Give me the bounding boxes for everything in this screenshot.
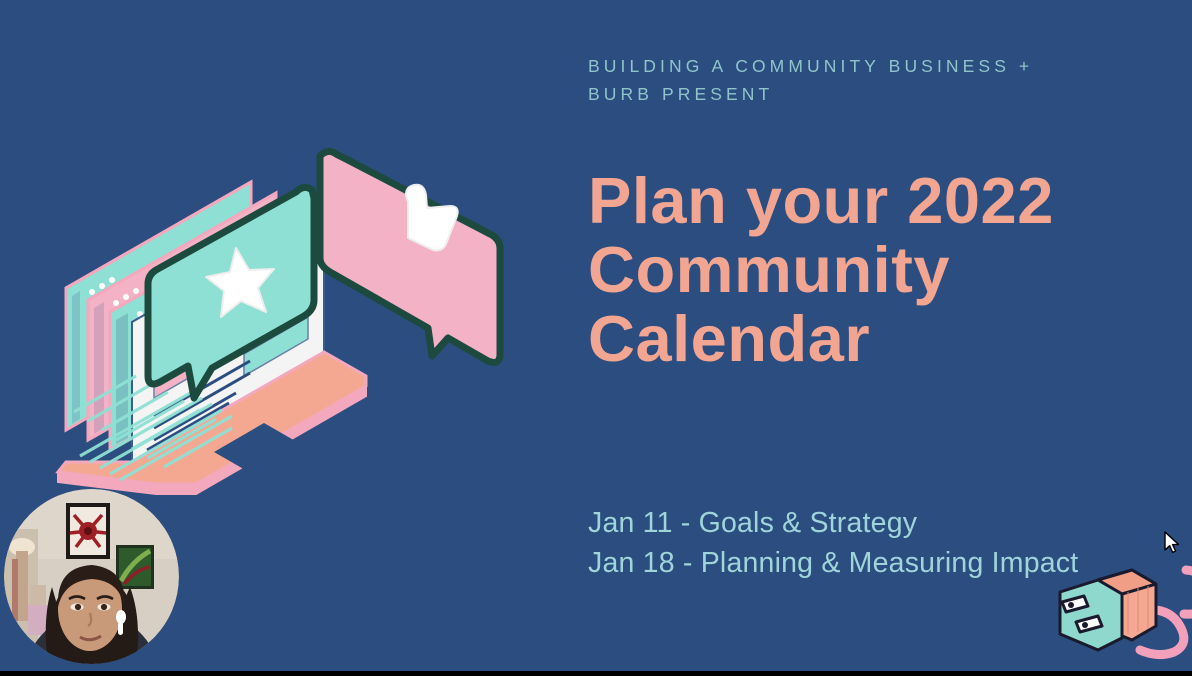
participant-video-thumbnail[interactable]: [4, 489, 179, 664]
plug-illustration-svg: [1040, 548, 1192, 671]
webcam-video-frame: [4, 489, 179, 664]
screen: BUILDING A COMMUNITY BUSINESS + BURB PRE…: [0, 0, 1192, 676]
presentation-slide: BUILDING A COMMUNITY BUSINESS + BURB PRE…: [0, 0, 1192, 671]
slide-text-column: BUILDING A COMMUNITY BUSINESS + BURB PRE…: [588, 52, 1148, 108]
slide-headline: Plan your 2022 Community Calendar: [588, 166, 1148, 373]
speech-bubble-pink: [320, 151, 500, 362]
plug-illustration: [1040, 548, 1192, 671]
session-item: Jan 11 - Goals & Strategy: [588, 503, 1148, 543]
slide-eyebrow: BUILDING A COMMUNITY BUSINESS + BURB PRE…: [588, 52, 1093, 108]
laptop-illustration-svg: [36, 140, 536, 540]
laptop-illustration: [36, 140, 536, 540]
bottom-letterbox-bar: [0, 671, 1192, 676]
